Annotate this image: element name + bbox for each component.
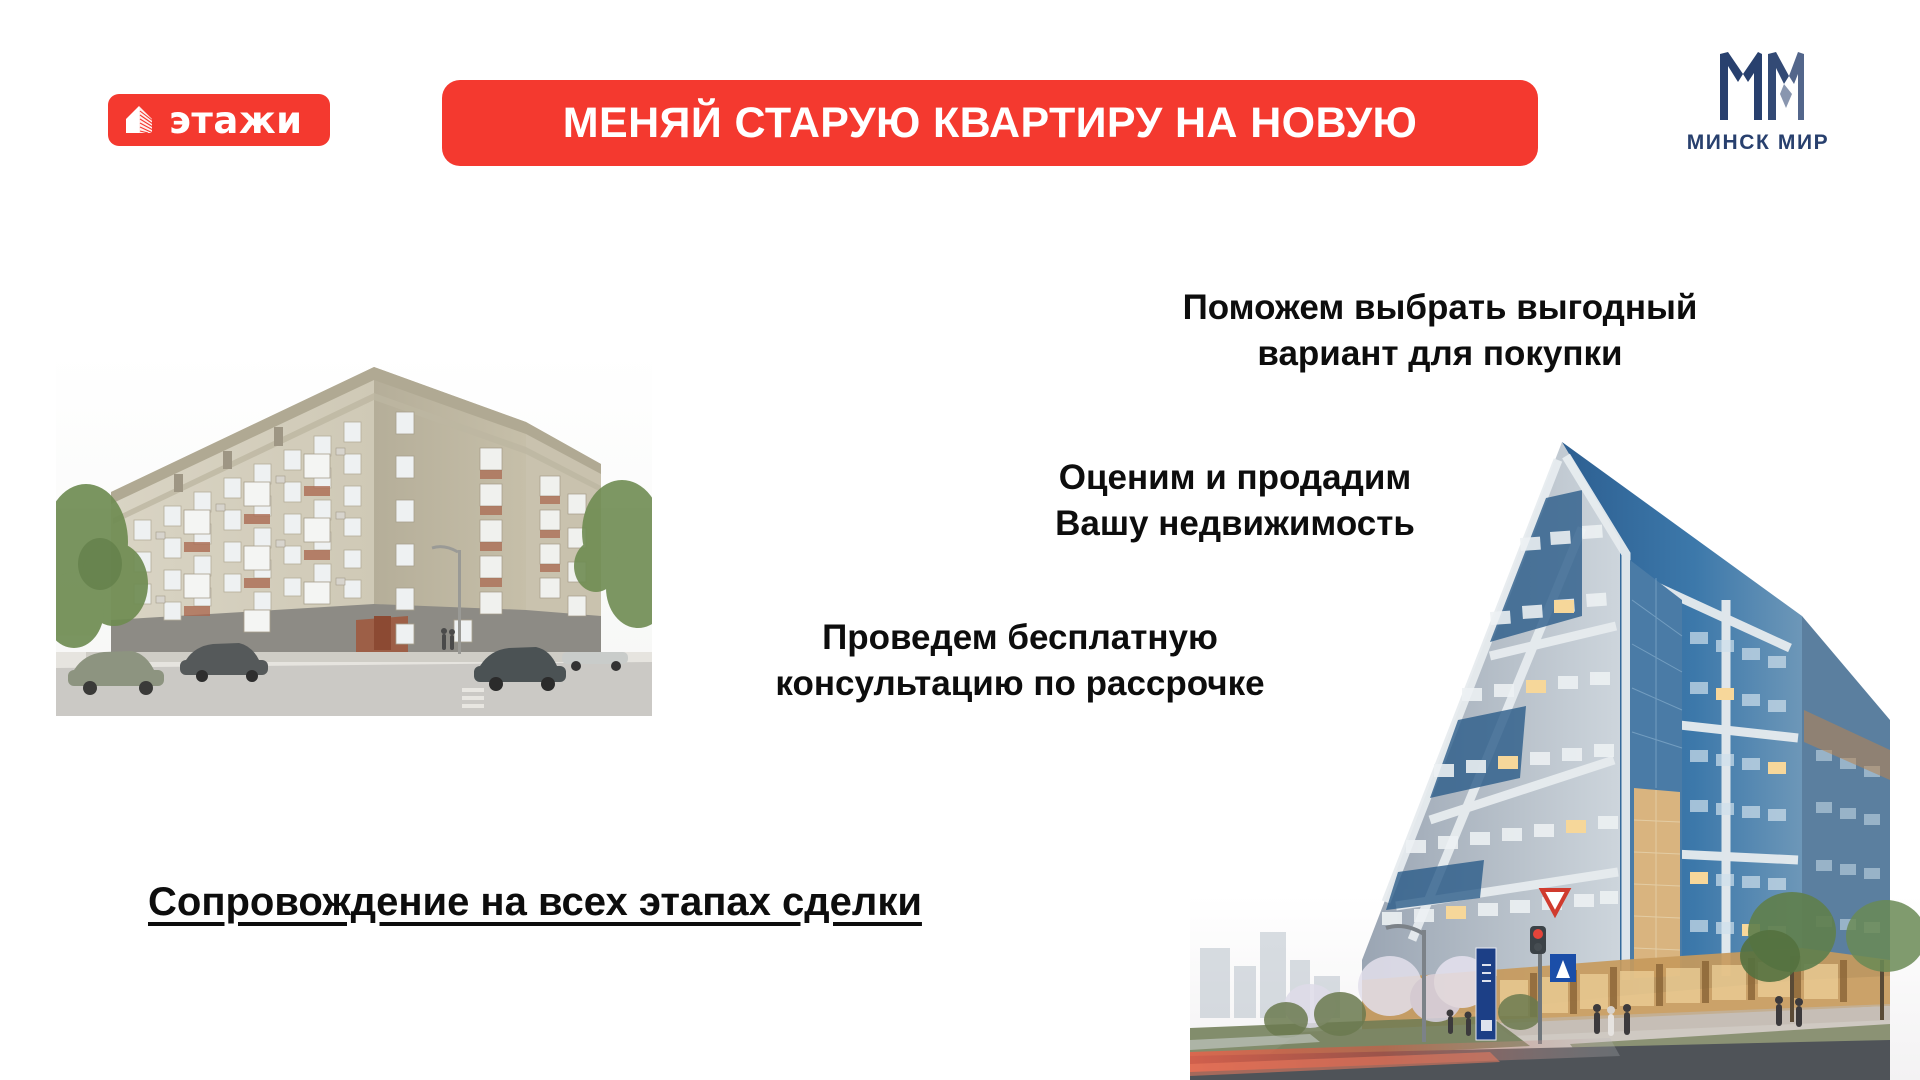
minsk-mir-logo[interactable]: МИНСК МИР bbox=[1684, 46, 1832, 168]
promo-text-appraise: Оценим и продадим Вашу недвижимость bbox=[1010, 455, 1460, 546]
old-apartment-building-photo bbox=[56, 352, 652, 716]
headline-banner: МЕНЯЙ СТАРУЮ КВАРТИРУ НА НОВУЮ bbox=[442, 80, 1538, 166]
footer-support-text: Сопровождение на всех этапах сделки bbox=[148, 880, 922, 925]
etazhi-brand-label: этажи bbox=[169, 102, 303, 139]
etazhi-brand-badge[interactable]: этажи bbox=[108, 94, 330, 146]
promo-text-consultation: Проведем бесплатную консультацию по расс… bbox=[740, 615, 1300, 706]
headline-text: МЕНЯЙ СТАРУЮ КВАРТИРУ НА НОВУЮ bbox=[563, 99, 1417, 148]
building-icon bbox=[122, 103, 160, 137]
minsk-mir-monogram-icon bbox=[1710, 46, 1806, 126]
minsk-mir-label: МИНСК МИР bbox=[1687, 131, 1830, 155]
promo-text-choose: Поможем выбрать выгодный вариант для пок… bbox=[1130, 285, 1750, 376]
